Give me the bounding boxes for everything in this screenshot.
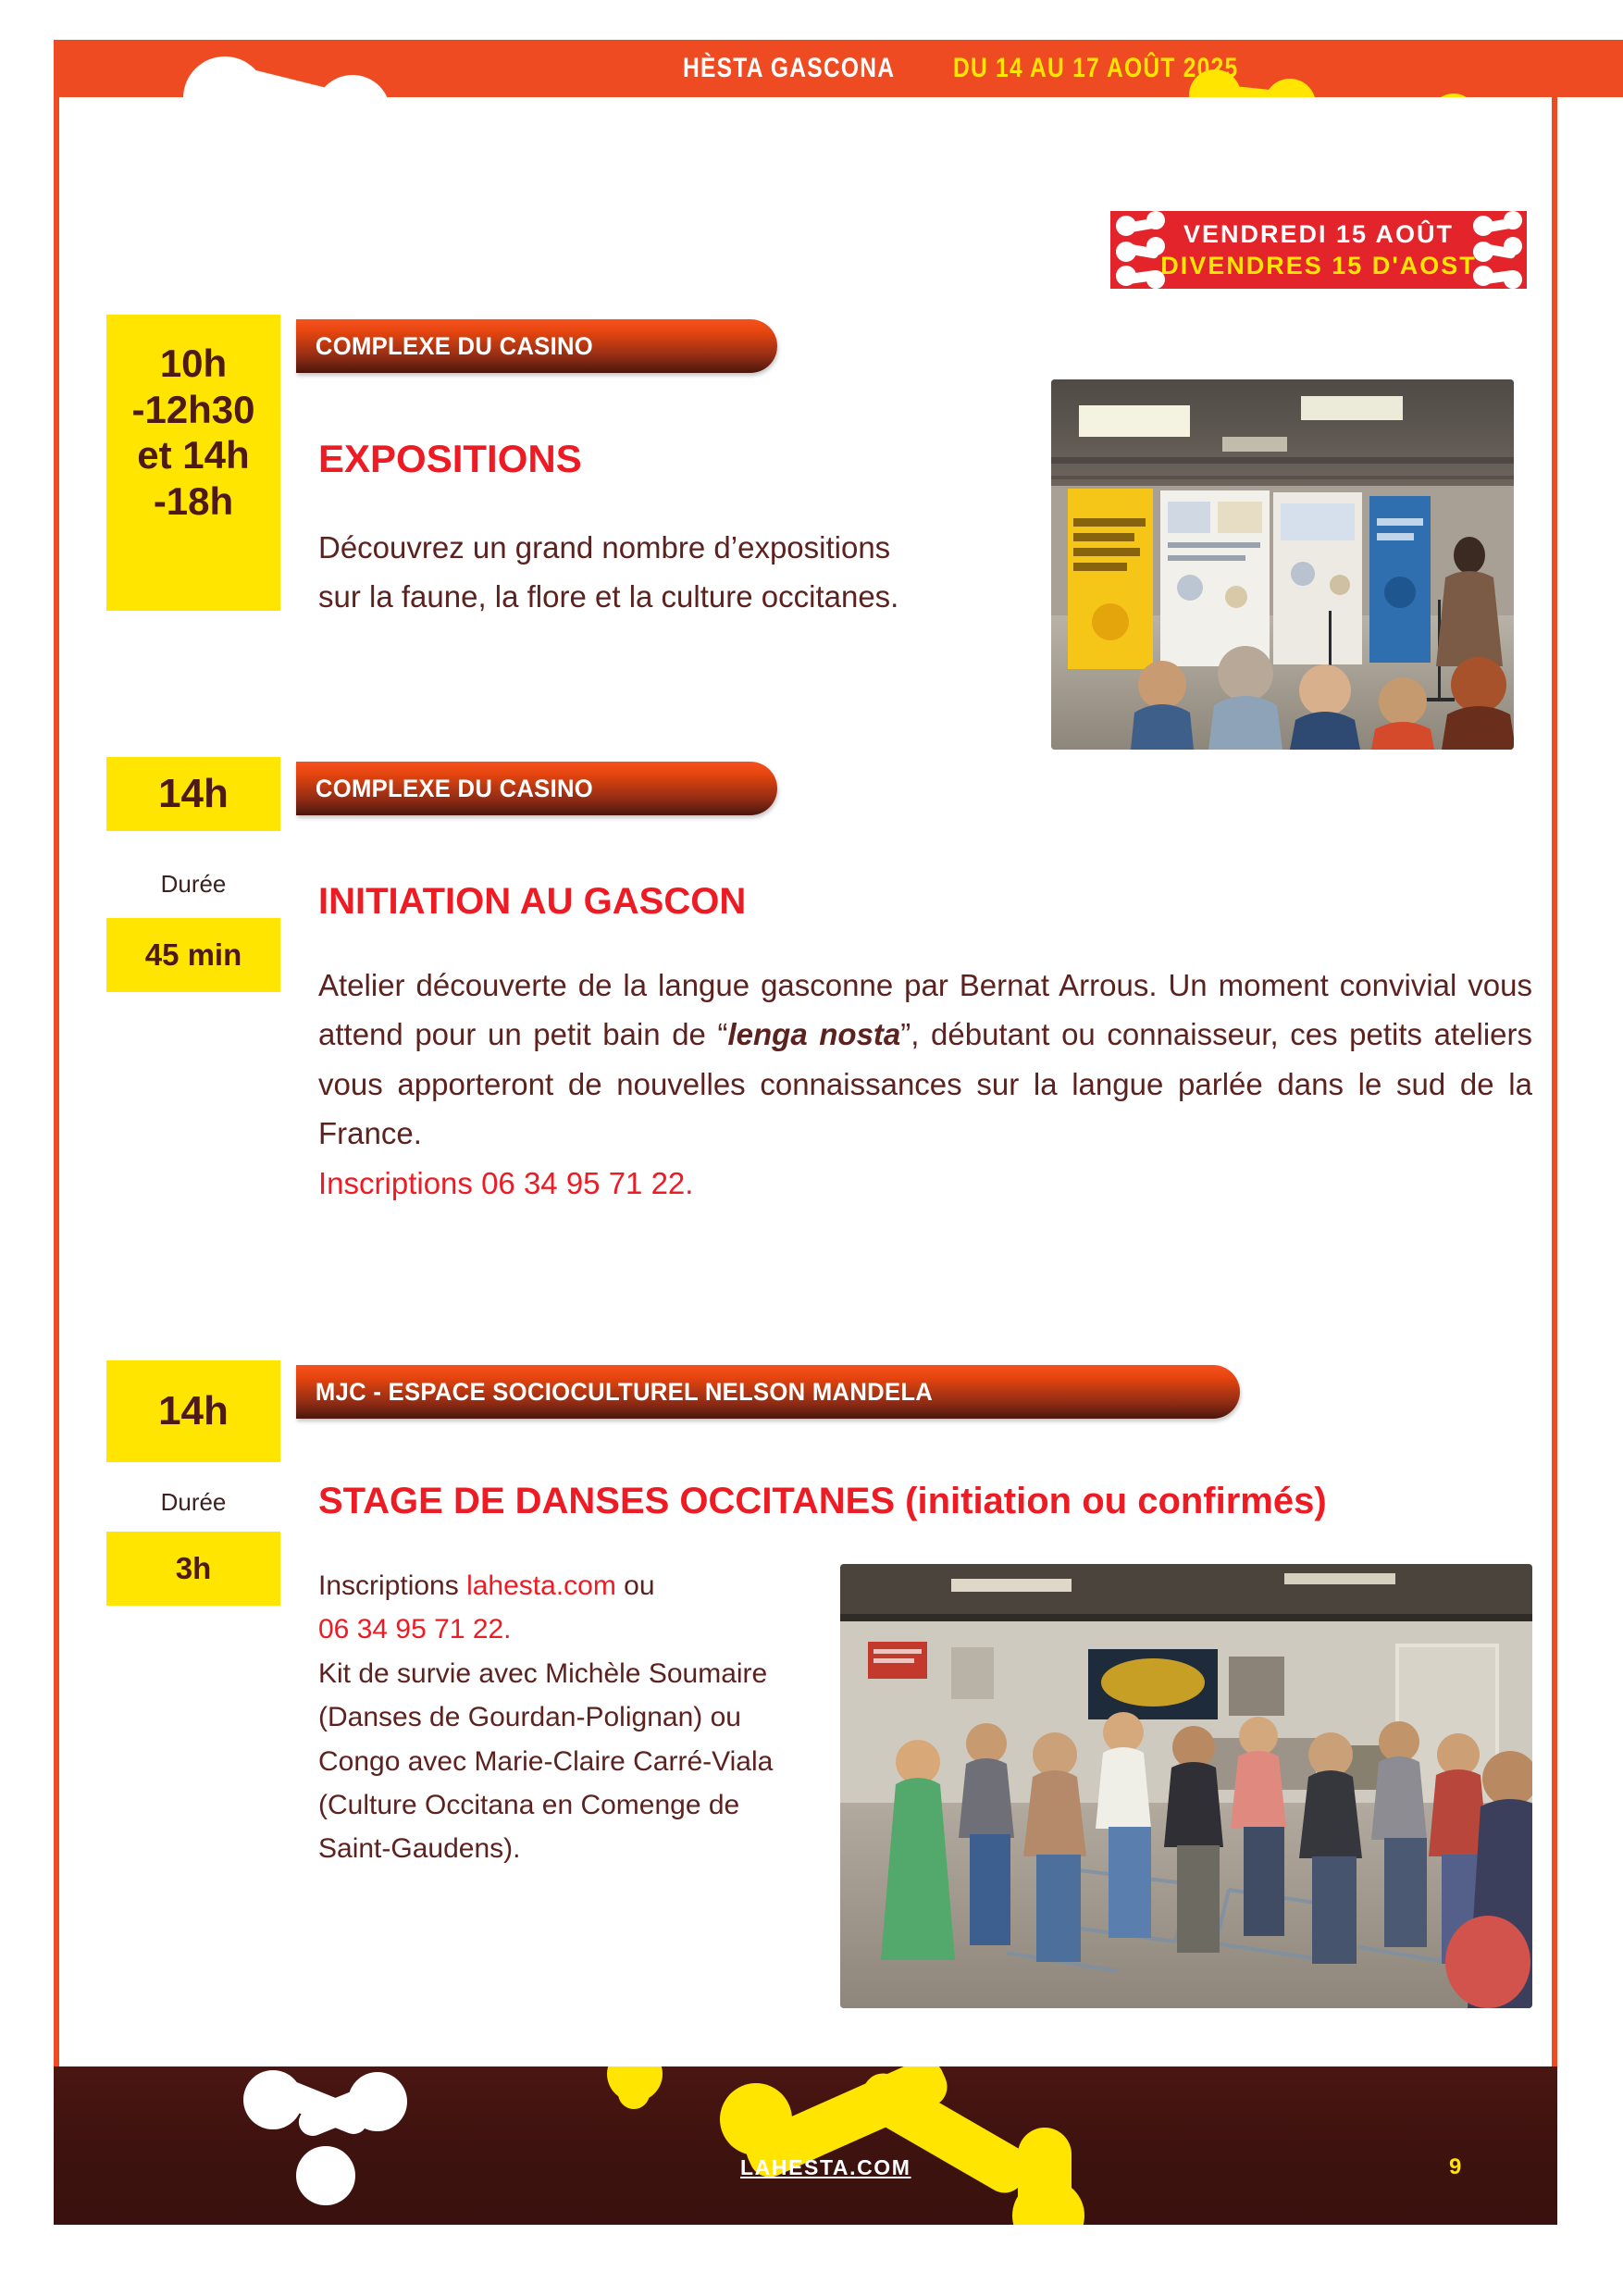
event-description-line2: sur la faune, la flore et la culture occ…	[318, 579, 898, 614]
date-badge-line-oc: DIVENDRES 15 D'AOST	[1110, 252, 1527, 280]
event-description-line1: Découvrez un grand nombre d’expositions	[318, 530, 890, 565]
event-description-rest: Kit de survie avec Michèle Soumaire (Dan…	[318, 1658, 773, 1865]
event-title: STAGE DE DANSES OCCITANES (initiation ou…	[318, 1481, 1327, 1522]
footer-url[interactable]: LAHESTA.COM	[740, 2155, 911, 2180]
page-number: 9	[1449, 2154, 1461, 2180]
event-description-emphasis: lenga nosta	[727, 1017, 900, 1051]
page-footer: LAHESTA.COM 9	[54, 2066, 1557, 2225]
event-registration-prefix: Inscriptions	[318, 1570, 466, 1601]
event-description: Découvrez un grand nombre d’expositions …	[318, 523, 1022, 622]
capbat-ball-icon	[296, 2146, 355, 2205]
event-venue-label: COMPLEXE DU CASINO	[296, 775, 593, 803]
event-venue-label: COMPLEXE DU CASINO	[296, 332, 593, 361]
capbat-ball-icon	[1431, 93, 1477, 97]
capbat-leg-icon	[1018, 2128, 1072, 2225]
event-title: INITIATION AU GASCON	[318, 881, 746, 923]
event-duration-label: Durée	[106, 870, 280, 899]
capbat-ornament-icon	[1471, 211, 1523, 289]
event-registration-info: Inscriptions 06 34 95 71 22.	[318, 1166, 693, 1200]
header-brand: HÈSTA GASCONA	[683, 53, 895, 84]
event-duration-badge: 45 min	[106, 918, 280, 992]
event-time-badge: 14h	[106, 757, 280, 831]
event-venue-bar: MJC - ESPACE SOCIOCULTUREL NELSON MANDEL…	[296, 1365, 1240, 1419]
event-venue-label: MJC - ESPACE SOCIOCULTUREL NELSON MANDEL…	[296, 1378, 933, 1407]
event-duration-label: Durée	[106, 1488, 280, 1517]
event-venue-bar: COMPLEXE DU CASINO	[296, 319, 777, 373]
event-venue-bar: COMPLEXE DU CASINO	[296, 762, 777, 815]
poster-page: HÈSTA GASCONA DU 14 AU 17 AOÛT 2025 VEND…	[0, 0, 1623, 2296]
event-description: Atelier découverte de la langue gasconne…	[318, 961, 1532, 1208]
event-photo-expositions	[1051, 379, 1514, 750]
top-header-band: HÈSTA GASCONA DU 14 AU 17 AOÛT 2025	[54, 40, 1623, 97]
event-registration-or: ou	[616, 1570, 655, 1601]
capbat-leg-icon	[618, 2066, 650, 2109]
event-registration-link[interactable]: lahesta.com	[466, 1570, 616, 1601]
event-time-badge: 10h -12h30 et 14h -18h	[106, 315, 280, 611]
event-description: Inscriptions lahesta.com ou 06 34 95 71 …	[318, 1564, 781, 1871]
event-duration-badge: 3h	[106, 1532, 280, 1606]
event-photo-danses	[840, 1564, 1532, 2008]
date-badge-line-fr: VENDREDI 15 AOÛT	[1110, 220, 1527, 249]
event-registration-phone: 06 34 95 71 22.	[318, 1614, 512, 1644]
event-time-badge: 14h	[106, 1360, 280, 1462]
event-title: EXPOSITIONS	[318, 437, 582, 481]
date-badge: VENDREDI 15 AOÛT DIVENDRES 15 D'AOST	[1110, 211, 1527, 289]
